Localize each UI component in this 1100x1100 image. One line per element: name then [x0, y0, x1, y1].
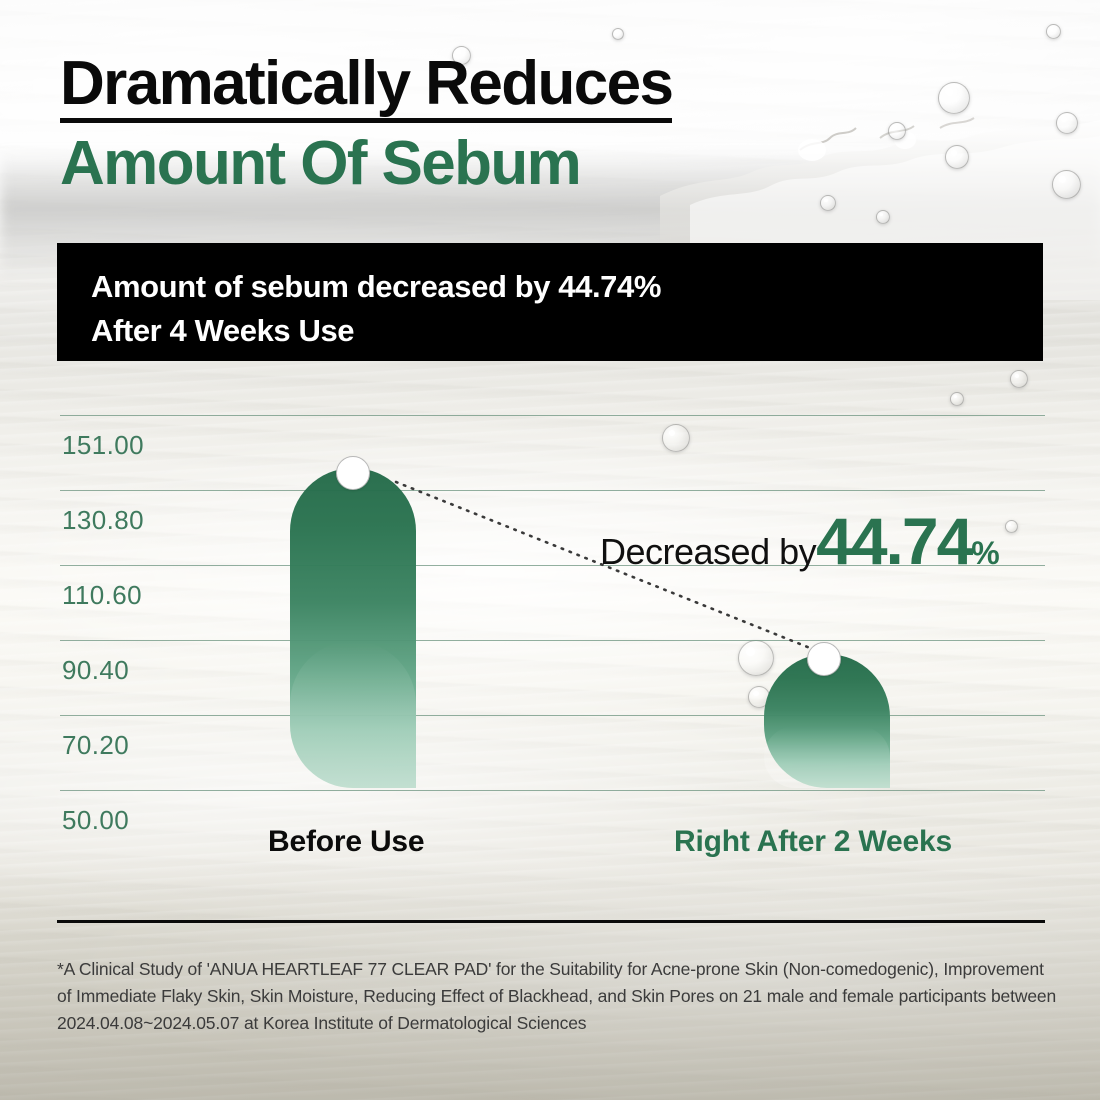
data-point-marker-before — [336, 456, 370, 490]
decrease-callout-value: 44.74 — [816, 512, 971, 571]
gridline — [60, 490, 1045, 491]
x-axis-label-right-after-2-weeks: Right After 2 Weeks — [674, 825, 952, 859]
bar-fade-overlay — [290, 641, 416, 788]
y-axis-tick-label: 110.60 — [62, 580, 142, 611]
bar-before-use — [290, 468, 416, 788]
bar-fade-overlay — [764, 726, 890, 788]
y-axis-tick-label: 70.20 — [62, 730, 129, 761]
infographic-canvas: Dramatically Reduces Amount Of Sebum Amo… — [0, 0, 1100, 1100]
data-point-marker-after — [807, 642, 841, 676]
gridline — [60, 415, 1045, 416]
y-axis-tick-label: 90.40 — [62, 655, 129, 686]
gridline — [60, 715, 1045, 716]
sebum-bar-chart: 151.00 130.80 110.60 90.40 70.20 50.00 B… — [0, 0, 1100, 1100]
gridline — [60, 790, 1045, 791]
y-axis-tick-label: 151.00 — [62, 430, 144, 461]
decrease-callout: Decreased by 44.74 % — [600, 512, 999, 573]
x-axis-label-before-use: Before Use — [268, 825, 424, 859]
y-axis-tick-label: 130.80 — [62, 505, 144, 536]
clinical-study-footnote: *A Clinical Study of 'ANUA HEARTLEAF 77 … — [57, 956, 1057, 1037]
decrease-callout-percent: % — [971, 535, 999, 572]
bottom-divider — [57, 920, 1045, 923]
y-axis-tick-label: 50.00 — [62, 805, 129, 836]
gridline — [60, 640, 1045, 641]
decrease-callout-label: Decreased by — [600, 531, 816, 573]
